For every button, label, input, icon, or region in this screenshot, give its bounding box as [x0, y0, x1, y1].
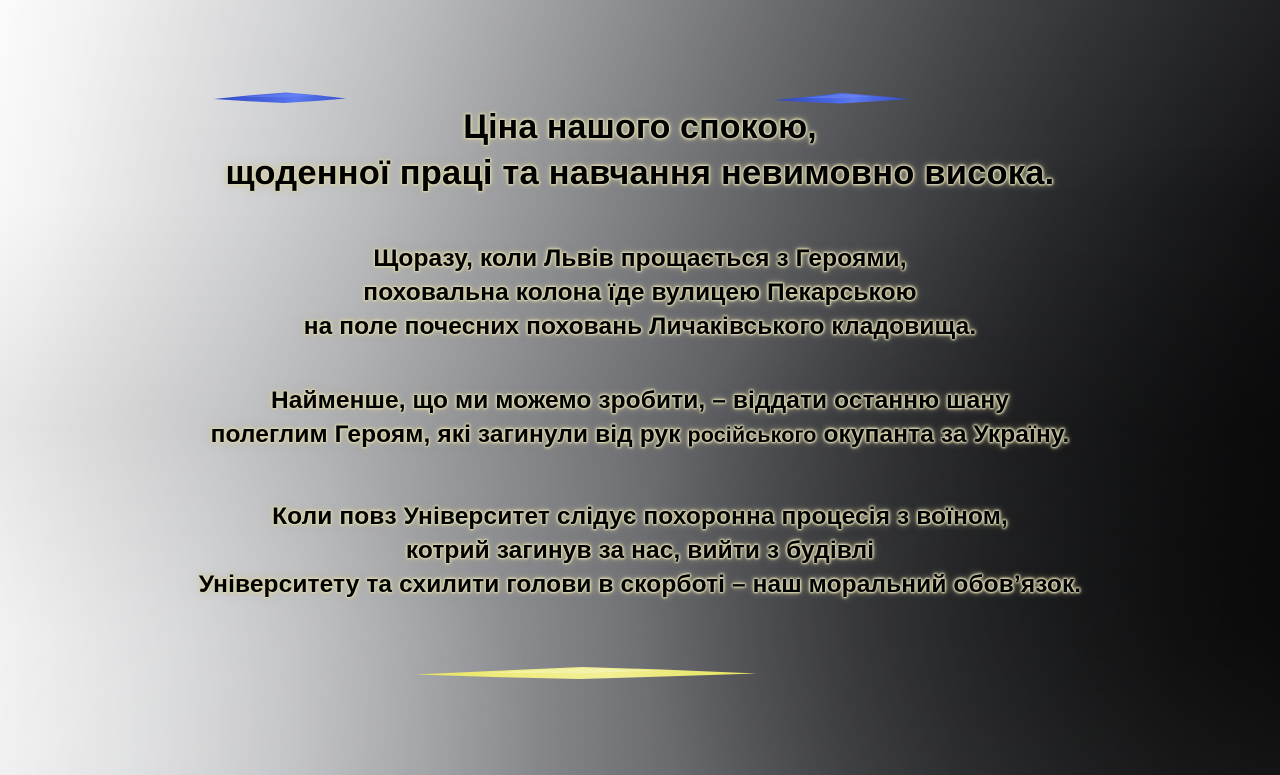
- paragraph-last-honour-line-1: Найменше, що ми можемо зробити, – віддат…: [211, 384, 1070, 418]
- presentation-slide: Ціна нашого спокою, щоденної праці та на…: [0, 0, 1280, 775]
- paragraph-last-honour-line-2-part-2: окупанта за Україну.: [817, 421, 1070, 448]
- paragraph-moral-duty-line-1: Коли повз Університет слідує похоронна п…: [199, 500, 1081, 534]
- paragraph-procession-line-1: Щоразу, коли Львів прощається з Героями,: [304, 242, 976, 276]
- paragraph-moral-duty-line-2: котрий загинув за нас, вийти з будівлі: [199, 534, 1081, 568]
- paragraph-moral-duty: Коли повз Університет слідує похоронна п…: [199, 500, 1081, 602]
- paragraph-procession-line-2: поховальна колона їде вулицею Пекарською: [304, 276, 976, 310]
- slide-title-line-2: щоденної праці та навчання невимовно вис…: [0, 150, 1280, 196]
- paragraph-last-honour-emphasis-word: російського: [687, 422, 816, 447]
- paragraph-moral-duty-line-3: Університету та схилити голови в скорбот…: [199, 568, 1081, 602]
- slide-title-line-1: Ціна нашого спокою,: [0, 104, 1280, 150]
- paragraph-procession-line-3: на поле почесних поховань Личаківського …: [304, 310, 976, 344]
- paragraph-procession: Щоразу, коли Львів прощається з Героями,…: [304, 242, 976, 344]
- slide-text-content: Ціна нашого спокою, щоденної праці та на…: [0, 0, 1280, 775]
- paragraph-last-honour: Найменше, що ми можемо зробити, – віддат…: [211, 384, 1070, 452]
- paragraph-last-honour-line-2-part-1: полеглим Героям, які загинули від рук: [211, 421, 688, 448]
- paragraph-last-honour-line-2: полеглим Героям, які загинули від рук ро…: [211, 418, 1070, 452]
